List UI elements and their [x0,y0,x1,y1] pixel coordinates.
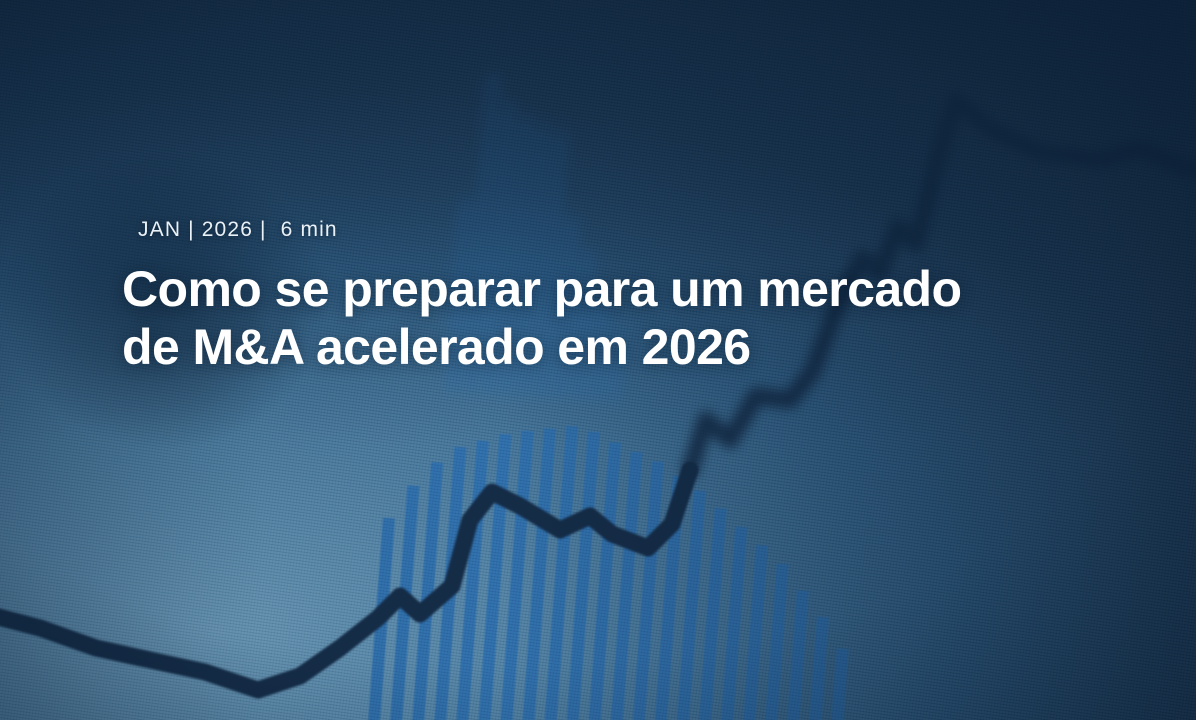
headline-line-2: de M&A acelerado em 2026 [122,318,1022,376]
article-hero-banner: JAN | 2026 | 6 min Como se preparar para… [0,0,1196,720]
page-title: Como se preparar para um mercado de M&A … [122,260,1022,376]
article-meta: JAN | 2026 | 6 min [138,218,1022,242]
headline-line-1: Como se preparar para um mercado [122,260,1022,318]
hero-text-block: JAN | 2026 | 6 min Como se preparar para… [122,218,1022,376]
